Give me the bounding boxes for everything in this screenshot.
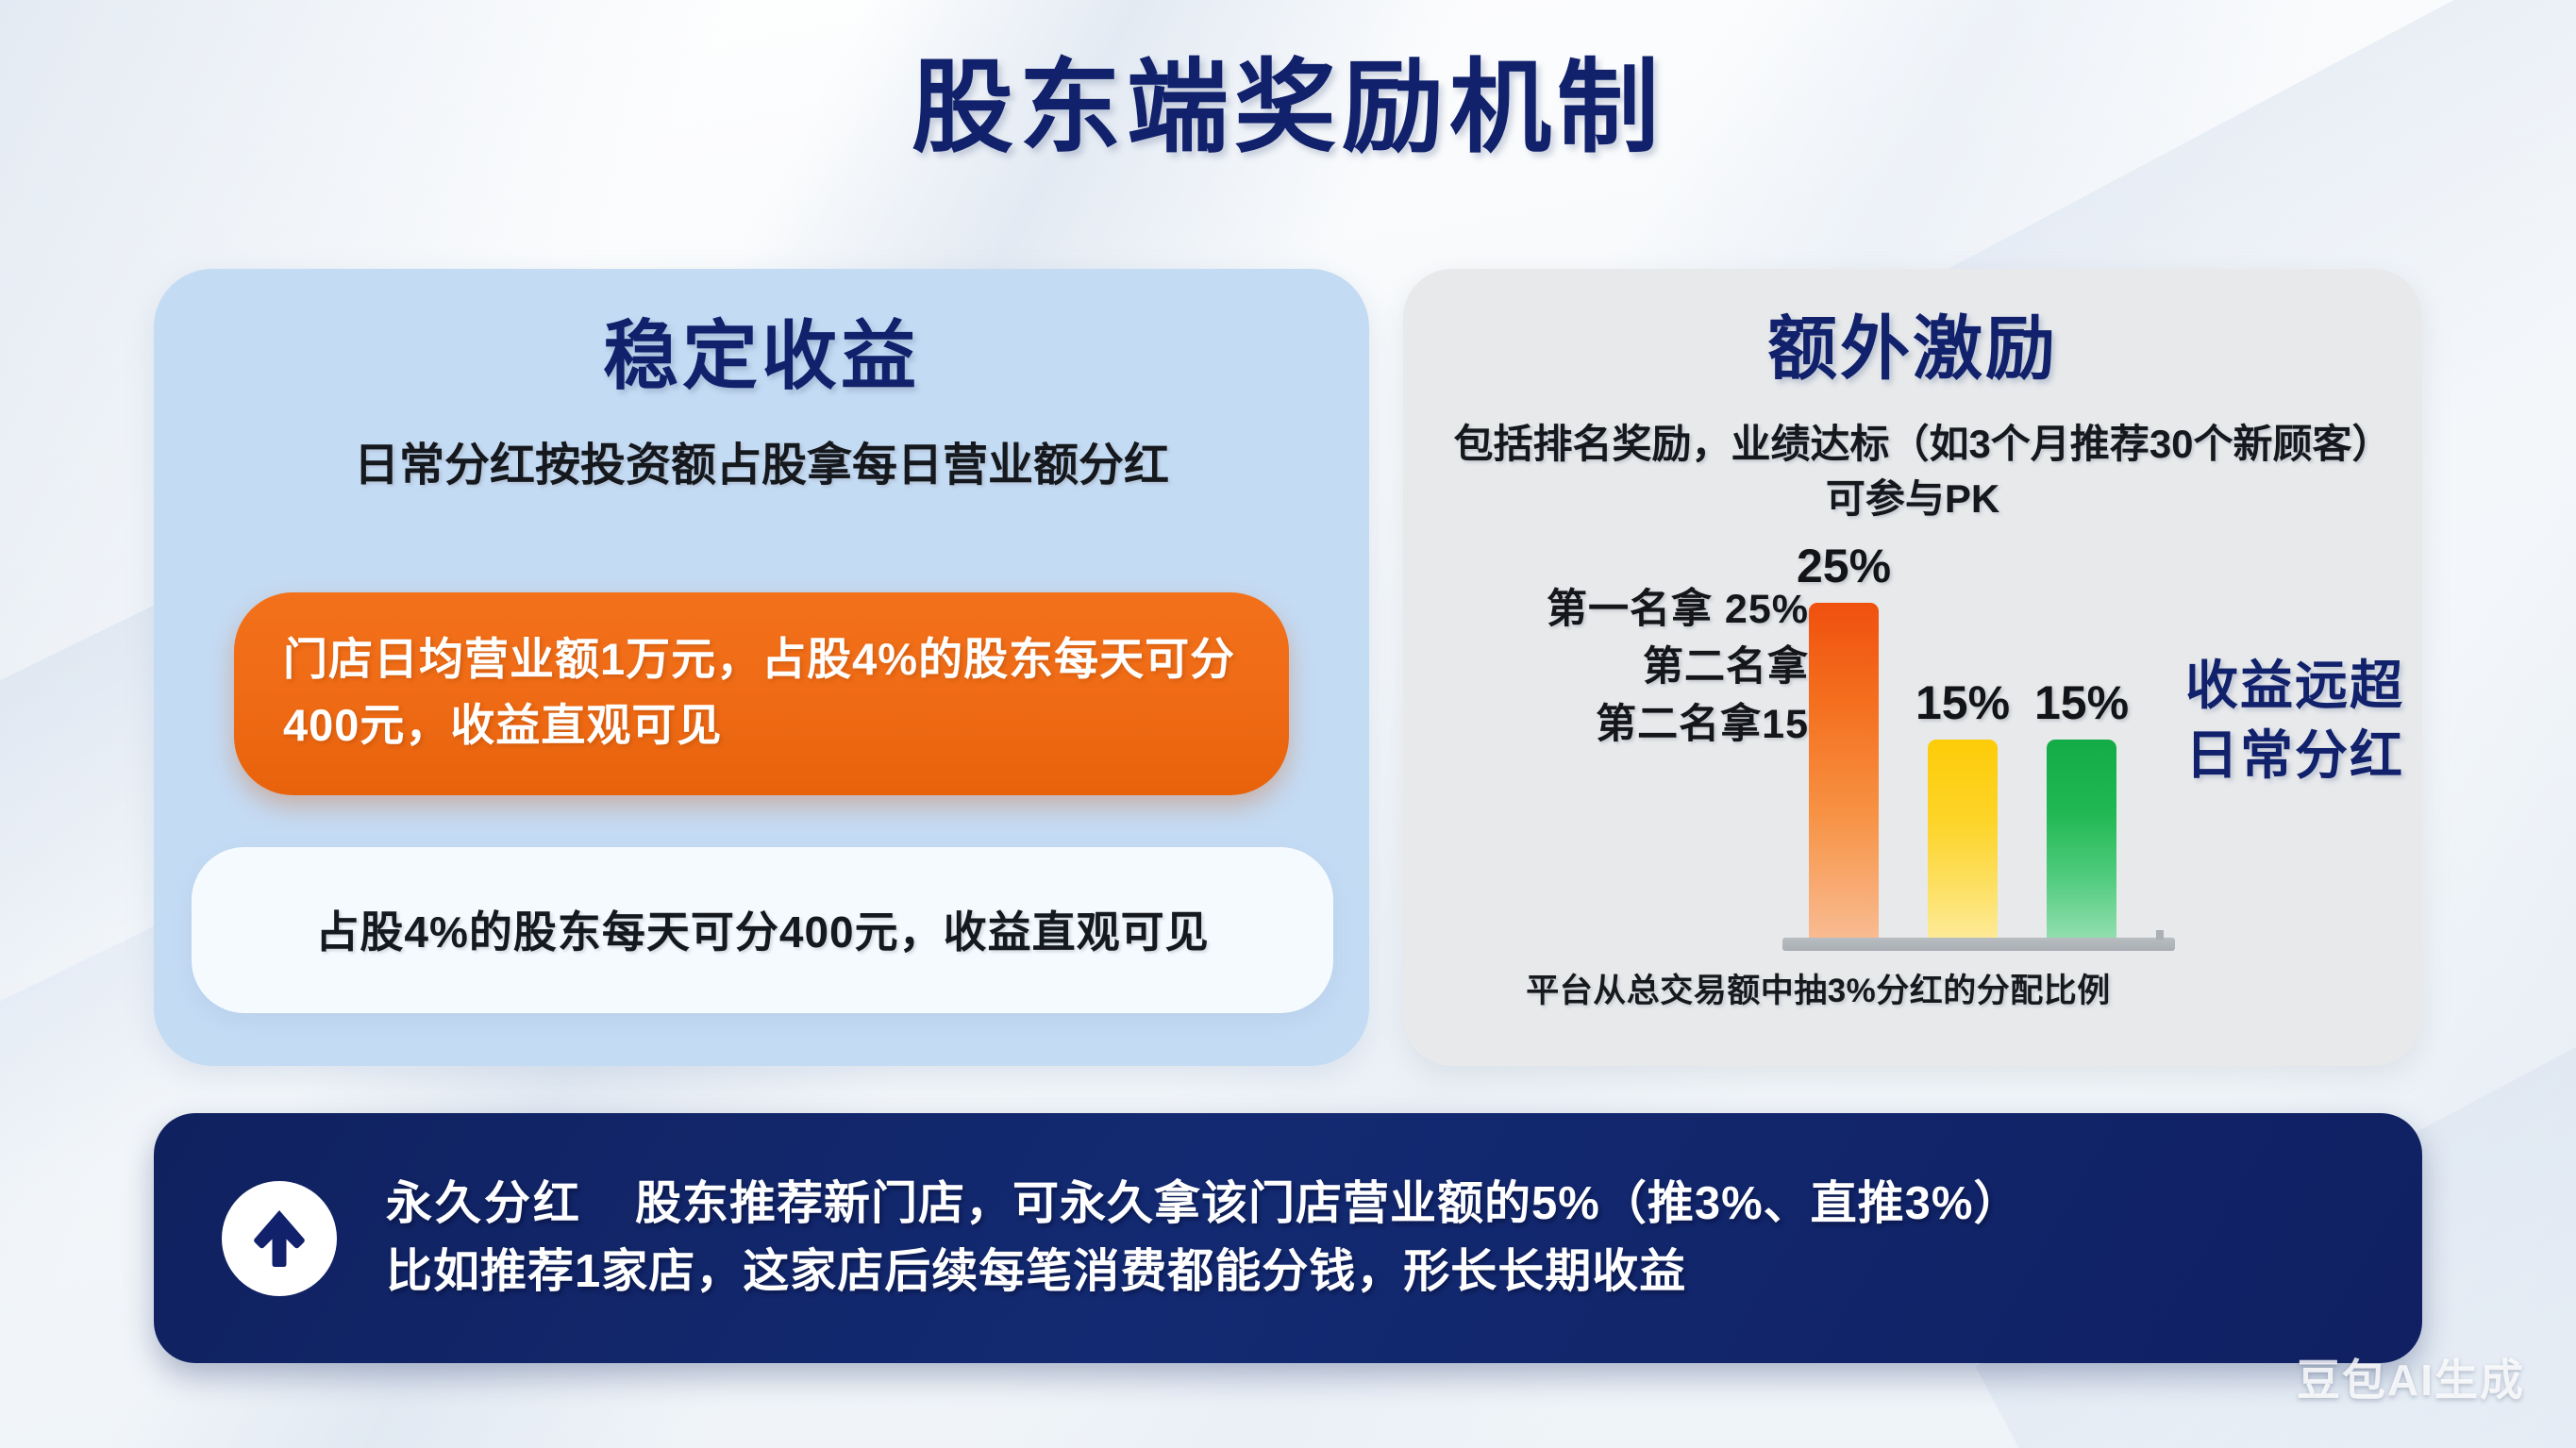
extra-incentive-subtitle: 包括排名奖励，业绩达标（如3个月推荐30个新顾客）可参与PK — [1403, 417, 2422, 526]
banner-line-1: 永久分红股东推荐新门店，可永久拿该门店营业额的5%（推3%、直推3%） — [386, 1171, 2366, 1238]
banner-line-1-text: 股东推荐新门店，可永久拿该门店营业额的5%（推3%、直推3%） — [635, 1178, 2020, 1229]
rank-label-group: 第一名拿 25% 第二名拿 第二名拿15 — [1431, 581, 1809, 754]
banner-text-block: 永久分红股东推荐新门店，可永久拿该门店营业额的5%（推3%、直推3%） 比如推荐… — [386, 1171, 2366, 1305]
permanent-dividend-banner: 永久分红股东推荐新门店，可永久拿该门店营业额的5%（推3%、直推3%） 比如推荐… — [154, 1113, 2422, 1363]
stable-income-subtitle: 日常分红按投资额占股拿每日营业额分红 — [154, 435, 1369, 497]
side-note-line-2: 日常分红 — [2177, 721, 2413, 791]
shareholder-share-card: 占股4%的股东每天可分400元，收益直观可见 — [192, 847, 1333, 1013]
stable-income-heading: 稳定收益 — [154, 314, 1369, 399]
bar-rect — [1809, 603, 1879, 943]
chart-side-note: 收益远超 日常分红 — [2177, 651, 2413, 791]
rank-label-third: 第二名拿15 — [1431, 696, 1809, 754]
bar-value-label: 15% — [2034, 675, 2129, 730]
arrow-up-icon — [222, 1181, 337, 1296]
chart-baseline — [1782, 938, 2175, 951]
rank-label-second: 第二名拿 — [1431, 639, 1809, 696]
bar-rect — [2047, 740, 2116, 943]
daily-dividend-callout: 门店日均营业额1万元，占股4%的股东每天可分400元，收益直观可见 — [234, 592, 1289, 795]
watermark: 豆包AI生成 — [2297, 1346, 2525, 1408]
bar-value-label: 15% — [1915, 675, 2010, 730]
bar-value-label: 25% — [1797, 539, 1891, 593]
distribution-bar-chart: 第一名拿 25% 第二名拿 第二名拿15 25% 15% 15% 平台从总交易额… — [1403, 557, 2422, 1066]
infographic-page: 股东端奖励机制 稳定收益 日常分红按投资额占股拿每日营业额分红 门店日均营业额1… — [0, 0, 2576, 1448]
bar-plot-area: 25% 15% 15% — [1809, 557, 2149, 943]
extra-incentive-heading: 额外激励 — [1403, 310, 2422, 389]
rank-label-first: 第一名拿 25% — [1431, 581, 1809, 639]
baseline-tick — [2156, 930, 2164, 940]
side-note-line-1: 收益远超 — [2177, 651, 2413, 721]
banner-lead-label: 永久分红 — [386, 1178, 582, 1229]
bar-rect — [1928, 740, 1998, 943]
chart-caption: 平台从总交易额中抽3%分红的分配比例 — [1403, 964, 2233, 1012]
page-title: 股东端奖励机制 — [0, 52, 2576, 164]
banner-line-2: 比如推荐1家店，这家店后续每笔消费都能分钱，形长长期收益 — [386, 1239, 2366, 1306]
